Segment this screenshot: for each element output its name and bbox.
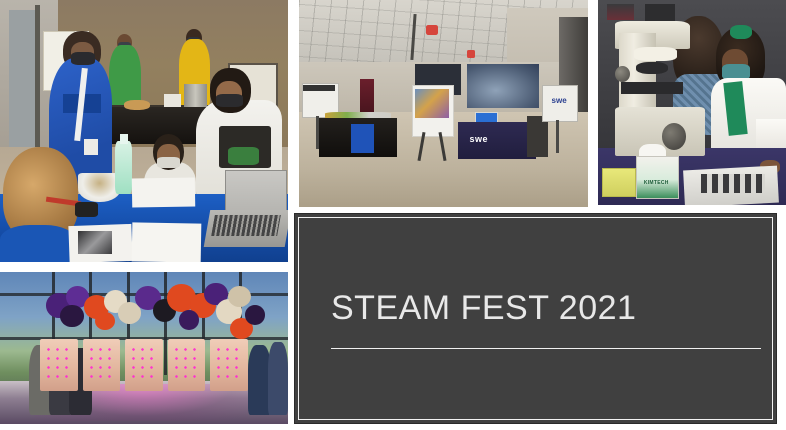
balloon-purple-5	[179, 310, 199, 330]
marquee-letter-s: S	[40, 339, 77, 391]
balloon-orange-4	[95, 312, 115, 330]
marquee-letter-a: A	[168, 339, 205, 391]
exhibit-hall-scene: swe swe	[299, 0, 588, 207]
left-table-blue-cloth	[351, 124, 374, 153]
steam-marquee-scene: S T E A M	[0, 272, 288, 424]
right-signage-logo-text: swe	[548, 95, 571, 105]
photo-outreach-activity-table[interactable]	[0, 0, 288, 262]
marquee-letter-e: E	[125, 339, 162, 391]
worksheet-right	[132, 222, 202, 262]
equipment-cart	[527, 116, 547, 157]
red-ceiling-light-icon-2	[467, 50, 476, 58]
laptop-keyboard	[211, 215, 281, 236]
volunteer-face-mask-icon	[71, 52, 95, 65]
photo-microscope-demonstration[interactable]: KIMTECH	[598, 0, 786, 205]
title-card: STEAM FEST 2021	[294, 213, 777, 424]
door	[9, 10, 37, 146]
red-ceiling-light-icon	[426, 25, 438, 35]
marquee-letter-t: T	[83, 339, 120, 391]
teen-face-mask-icon	[216, 94, 243, 107]
volunteer-badge	[84, 139, 98, 155]
pipette-tip-box	[602, 168, 636, 197]
photo-steam-marquee-backdrop[interactable]: S T E A M	[0, 272, 288, 424]
balloon-black-1	[60, 305, 83, 326]
microscope-eyepiece	[634, 47, 677, 61]
balloon-cream-4	[228, 286, 251, 307]
swe-table-logo-text: swe	[470, 130, 522, 147]
microscope-illumination-knob	[662, 123, 686, 150]
hand-sanitizer-pump	[120, 134, 129, 144]
title-underline-rule	[331, 348, 761, 349]
microscope-focus-knob	[615, 66, 630, 82]
door-frame	[35, 5, 41, 152]
food-tray	[124, 100, 150, 110]
teen-shirt-graphic-accent	[228, 147, 260, 165]
projection-screen	[467, 64, 539, 107]
microscope-nosepiece	[636, 62, 668, 74]
photo-exhibit-hall-tables[interactable]: swe swe	[299, 0, 588, 207]
kimtech-box-label: KIMTECH	[637, 178, 675, 188]
poster-easel-graphic	[415, 89, 450, 118]
marquee-letter-m: M	[210, 339, 247, 391]
steam-marquee-letters: S T E A M	[40, 339, 247, 391]
balloon-black-3	[245, 305, 265, 325]
left-signage-header	[303, 85, 335, 91]
student-two-hair-bow	[730, 25, 753, 39]
microscope-camera-module	[607, 4, 633, 20]
student-5	[268, 342, 288, 415]
binder-printed-images	[701, 174, 765, 192]
hand-sanitizer-bottle	[115, 141, 132, 193]
microscope-scene: KIMTECH	[598, 0, 786, 205]
right-signage-stand	[556, 120, 559, 153]
bottles	[184, 84, 207, 108]
photo-collage: swe swe	[0, 0, 786, 430]
worksheet-upper	[132, 178, 196, 208]
kimtech-wipes-box	[636, 156, 679, 199]
foreground-child-shirt	[0, 225, 75, 262]
supply-box	[164, 94, 181, 107]
tape-dispenser	[75, 202, 98, 218]
outreach-scene	[0, 0, 288, 262]
microscope-stage	[621, 82, 683, 94]
title-card-inner-frame: STEAM FEST 2021	[298, 217, 773, 420]
worksheet-left-image	[78, 231, 113, 255]
page-title: STEAM FEST 2021	[331, 291, 636, 325]
child-face-mask-icon	[157, 157, 180, 167]
